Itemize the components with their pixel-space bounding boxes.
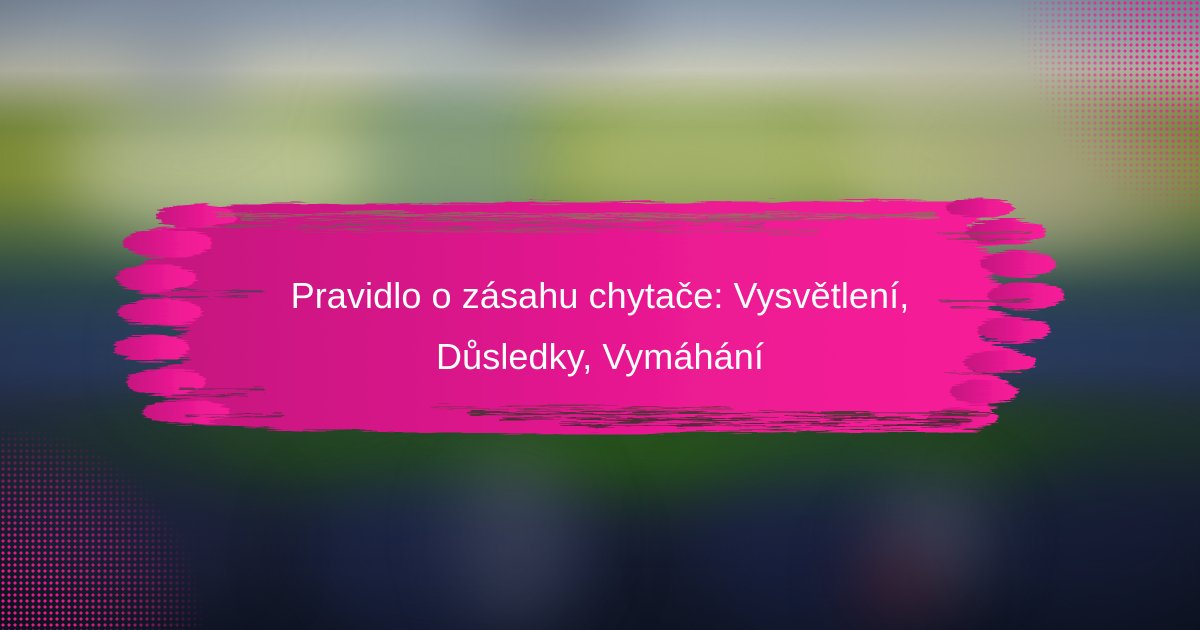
card-title: Pravidlo o zásahu chytače: Vysvětlení, D… (150, 265, 1050, 387)
social-share-card: Pravidlo o zásahu chytače: Vysvětlení, D… (0, 0, 1200, 630)
